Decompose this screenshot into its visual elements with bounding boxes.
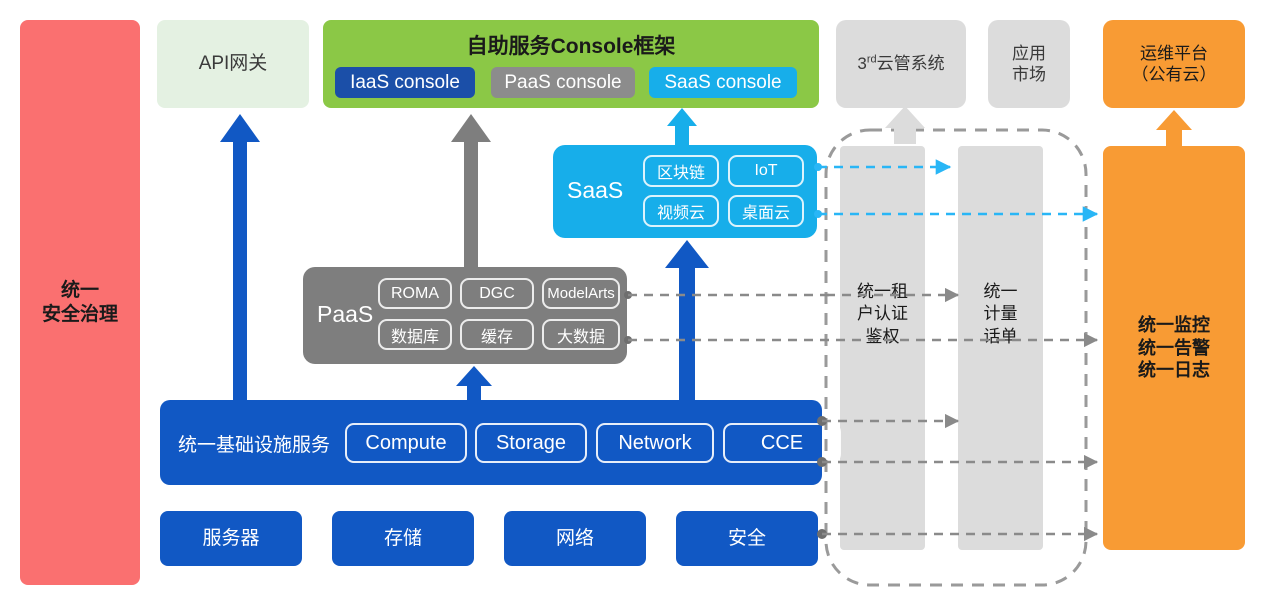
console-framework-title: 自助服务Console框架 <box>323 30 819 60</box>
unified-infrastructure-label: 统一基础设施服务 <box>178 430 330 457</box>
app-market-line2: 市场 <box>1012 64 1046 85</box>
architecture-diagram: 统一 安全治理 API网关 自助服务Console框架 IaaS console… <box>0 0 1265 605</box>
unified-ops-line3: 统一日志 <box>1138 359 1210 382</box>
unified-ops-line1: 统一监控 <box>1138 314 1210 337</box>
arrow-container-to-third-party <box>885 106 925 144</box>
arrow-paas-to-console <box>451 114 491 268</box>
saas-console-chip: SaaS console <box>649 67 797 98</box>
ops-platform-public-cloud-line2: （公有云） <box>1132 64 1217 85</box>
console-framework-box: 自助服务Console框架 IaaS console PaaS console … <box>323 20 819 108</box>
paas-layer-label: PaaS <box>317 301 373 328</box>
hardware-item-security: 安全 <box>676 511 818 566</box>
saas-item-blockchain: 区块链 <box>643 155 719 187</box>
arrow-ops-panel-to-ops-top <box>1156 110 1192 146</box>
paas-item-bigdata: 大数据 <box>542 319 620 350</box>
api-gateway-label: API网关 <box>199 52 268 76</box>
arrow-infra-to-api-gateway <box>220 114 260 400</box>
iaas-console-chip: IaaS console <box>335 67 475 98</box>
saas-item-desktop-cloud: 桌面云 <box>728 195 804 227</box>
paas-console-label: PaaS console <box>504 72 621 94</box>
paas-layer-box: PaaS ROMA DGC ModelArts 数据库 缓存 大数据 <box>303 267 627 364</box>
paas-item-modelarts: ModelArts <box>542 278 620 309</box>
hardware-item-storage: 存储 <box>332 511 474 566</box>
unified-infrastructure-box: 统一基础设施服务 Compute Storage Network CCE <box>160 400 822 485</box>
arrow-saas-to-console <box>667 108 697 146</box>
infra-item-compute: Compute <box>345 423 467 463</box>
hardware-item-server: 服务器 <box>160 511 302 566</box>
paas-item-dgc: DGC <box>460 278 534 309</box>
paas-item-database: 数据库 <box>378 319 452 350</box>
app-market-line1: 应用 <box>1012 43 1046 64</box>
app-market-box: 应用 市场 <box>988 20 1070 108</box>
saas-layer-box: SaaS 区块链 IoT 视频云 桌面云 <box>553 145 817 238</box>
paas-item-roma: ROMA <box>378 278 452 309</box>
third-party-cloud-mgmt-box: 3rd云管系统 <box>836 20 966 108</box>
saas-item-iot: IoT <box>728 155 804 187</box>
infra-item-network: Network <box>596 423 714 463</box>
ops-platform-public-cloud-box: 运维平台 （公有云） <box>1103 20 1245 108</box>
paas-console-chip: PaaS console <box>491 67 635 98</box>
api-gateway-box: API网关 <box>157 20 309 108</box>
third-party-cloud-mgmt-label: 3rd云管系统 <box>857 53 944 74</box>
security-governance-line1: 统一 <box>61 279 99 303</box>
unified-tenant-auth-label: 统一租 户认证 鉴权 <box>840 281 925 348</box>
iaas-console-label: IaaS console <box>350 72 460 94</box>
unified-ops-panel: 统一监控 统一告警 统一日志 <box>1103 146 1245 550</box>
link-paas-to-tenant-auth <box>624 291 836 299</box>
hardware-item-network: 网络 <box>504 511 646 566</box>
ops-platform-public-cloud-line1: 运维平台 <box>1140 43 1208 64</box>
arrow-infra-to-saas <box>665 240 709 402</box>
saas-layer-label: SaaS <box>567 177 623 204</box>
security-governance-line2: 安全治理 <box>42 303 118 327</box>
paas-item-cache: 缓存 <box>460 319 534 350</box>
infra-item-storage: Storage <box>475 423 587 463</box>
security-governance-panel: 统一 安全治理 <box>20 20 140 585</box>
infra-item-cce: CCE <box>723 423 841 463</box>
saas-item-video-cloud: 视频云 <box>643 195 719 227</box>
arrow-infra-to-paas <box>456 366 492 402</box>
unified-metering-billing-label: 统一 计量 话单 <box>958 281 1043 348</box>
saas-console-label: SaaS console <box>664 72 781 94</box>
unified-ops-line2: 统一告警 <box>1138 337 1210 360</box>
